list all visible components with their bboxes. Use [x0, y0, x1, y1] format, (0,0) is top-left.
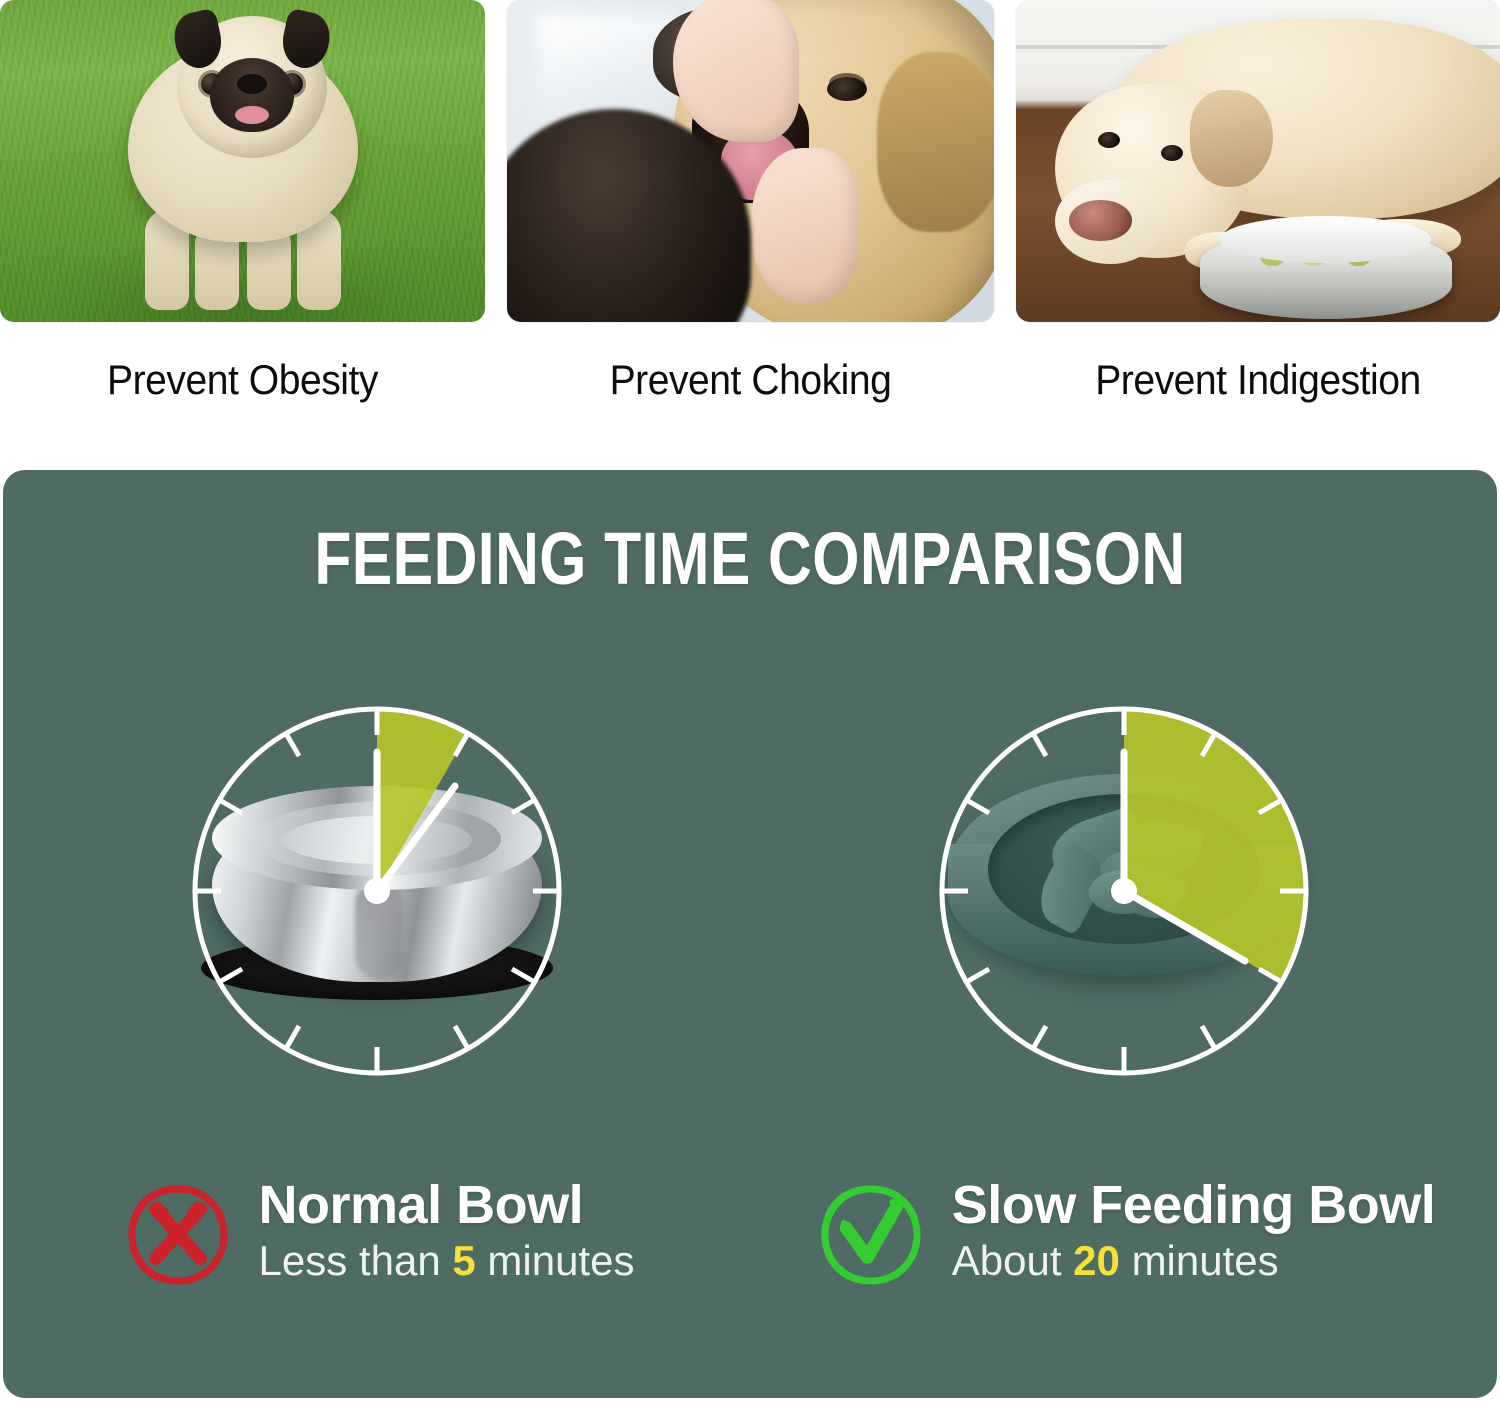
verdict-subtitle-normal: Less than 5 minutes: [259, 1239, 635, 1283]
hand-lower: [751, 148, 858, 303]
benefit-label-obesity: Prevent Obesity: [17, 356, 468, 404]
benefit-card-choking: Prevent Choking: [507, 0, 994, 440]
verdict-title-normal: Normal Bowl: [259, 1178, 635, 1233]
labrador-ear: [1190, 90, 1272, 187]
verdict-cell-normal-bowl: Normal Bowl Less than 5 minutes: [3, 1174, 750, 1364]
verdict-cell-slow-bowl: Slow Feeding Bowl About 20 minutes: [750, 1174, 1497, 1364]
verdict-sub-suffix-normal: minutes: [487, 1237, 634, 1284]
product-infographic: Prevent Obesity Prevent Choking: [0, 0, 1500, 1405]
comparison-panel: FEEDING TIME COMPARISON: [3, 470, 1497, 1398]
benefit-card-indigestion: Prevent Indigestion: [1016, 0, 1500, 440]
clock-hub-slow: [1111, 878, 1137, 904]
clock-normal-bowl: [162, 676, 592, 1106]
verdict-sub-prefix-slow: About: [952, 1237, 1062, 1284]
clock-cell-slow-bowl: [750, 676, 1497, 1146]
verdict-subtitle-slow: About 20 minutes: [952, 1239, 1436, 1283]
clock-cell-normal-bowl: [3, 676, 750, 1146]
clock-hub-normal: [364, 878, 390, 904]
verdict-sub-prefix-normal: Less than: [259, 1237, 441, 1284]
verdict-title-slow: Slow Feeding Bowl: [952, 1178, 1436, 1233]
green-circle-check-icon: [812, 1176, 930, 1294]
clock-comparison-row: [3, 676, 1497, 1146]
benefit-card-obesity: Prevent Obesity: [0, 0, 485, 440]
verdict-sub-value-normal: 5: [452, 1237, 475, 1284]
benefit-label-indigestion: Prevent Indigestion: [1033, 356, 1483, 404]
photo-overweight-pug: [0, 0, 485, 322]
clock-slow-feeding-bowl: [909, 676, 1339, 1106]
pug-head: [177, 16, 327, 158]
verdict-sub-value-slow: 20: [1073, 1237, 1120, 1284]
clock-face-normal: [162, 676, 592, 1106]
benefit-label-choking: Prevent Choking: [524, 356, 977, 404]
panel-title: FEEDING TIME COMPARISON: [137, 516, 1362, 601]
red-circle-x-icon: [119, 1176, 237, 1294]
steel-food-bowl: [1200, 229, 1452, 319]
clock-face-slow: [909, 676, 1339, 1106]
verdict-row: Normal Bowl Less than 5 minutes: [3, 1174, 1497, 1364]
retriever-ear: [877, 52, 994, 232]
benefits-row: Prevent Obesity Prevent Choking: [0, 0, 1500, 440]
photo-labrador-with-bowl: [1016, 0, 1500, 322]
verdict-sub-suffix-slow: minutes: [1132, 1237, 1279, 1284]
photo-vet-checking-mouth: [507, 0, 994, 322]
wedge-5-minutes: [377, 709, 468, 891]
